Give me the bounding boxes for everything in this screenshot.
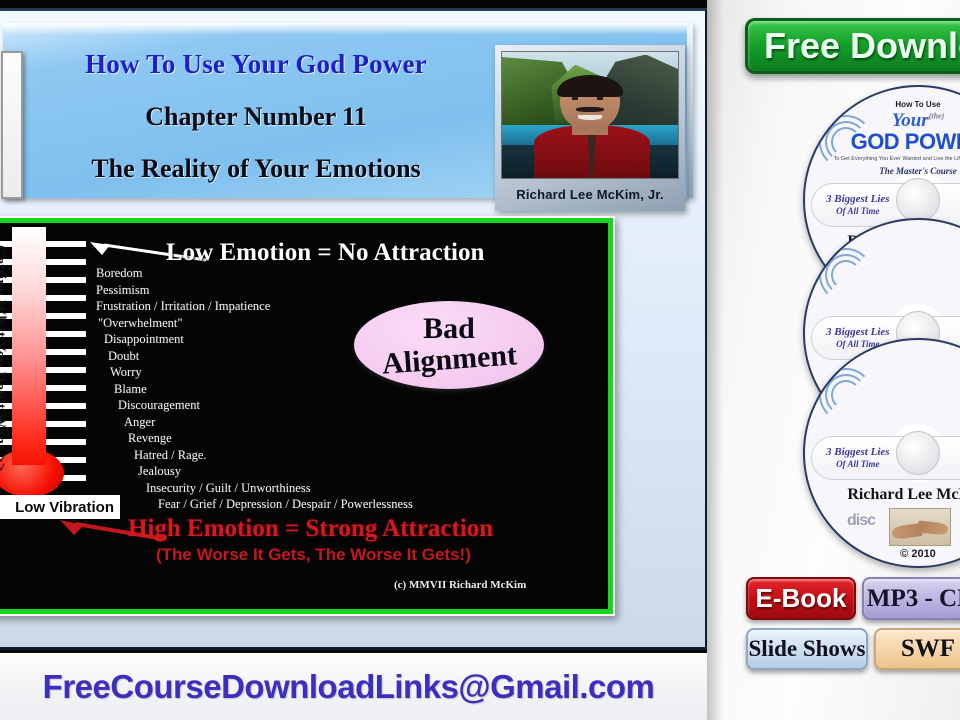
cropped-side-panel xyxy=(1,51,23,199)
list-item: Pessimism xyxy=(84,282,504,299)
thermometer-tick xyxy=(46,403,86,409)
right-sidebar: Free Download How To Use Your(the) GOD P… xyxy=(707,0,960,720)
slide-content: Getting What You Don't Want >> Low Vibra… xyxy=(0,223,608,609)
thermometer-tick xyxy=(46,313,86,319)
low-emotion-headline: Low Emotion = No Attraction xyxy=(166,239,484,267)
chapter-number: Chapter Number 11 xyxy=(31,102,481,132)
cd-band-left-line1: 3 Biggest Lies xyxy=(826,446,890,458)
cd-art-line1: How To Use xyxy=(805,101,960,109)
bad-alignment-line1: Bad xyxy=(423,314,475,344)
cd-art-line5: The Master's Course xyxy=(805,167,960,176)
list-item: Fear / Grief / Depression / Despair / Po… xyxy=(84,496,504,513)
thermometer-tick xyxy=(46,241,86,247)
thermometer-tick xyxy=(46,259,86,265)
format-button-ebook[interactable]: E-Book xyxy=(746,577,856,620)
thermometer-tick xyxy=(46,331,86,337)
list-item: Revenge xyxy=(84,430,504,447)
slide-image-frame: Getting What You Don't Want >> Low Vibra… xyxy=(0,216,615,616)
cd-art-line2: Your xyxy=(892,110,929,131)
cd-art-line4: To Get Everything You Ever Wanted and Li… xyxy=(805,156,960,163)
author-portrait-image xyxy=(501,51,679,179)
free-download-label: Free Download xyxy=(764,25,960,67)
creation-of-adam-hands-icon xyxy=(889,508,951,546)
cd-band-left-line2: Of All Time xyxy=(826,205,890,217)
disc-logo-icon: disc xyxy=(847,512,875,530)
cd-art-line2-small: (the) xyxy=(929,112,945,121)
thermometer-tick xyxy=(46,385,86,391)
slide-title-block: How To Use Your God Power Chapter Number… xyxy=(31,49,481,184)
email-footer-bar: FreeCourseDownloadLinks@Gmail.com xyxy=(0,650,707,720)
thermometer-tick xyxy=(46,421,86,427)
chapter-subtitle: The Reality of Your Emotions xyxy=(31,154,481,184)
cd-band-left: 3 Biggest Lies Of All Time xyxy=(826,193,890,217)
slide-green-border: Getting What You Don't Want >> Low Vibra… xyxy=(0,218,613,614)
emotion-thermometer: Getting What You Don't Want >> xyxy=(0,227,82,517)
thermometer-tick xyxy=(46,439,86,445)
cd-author-name: Richard Lee McKim xyxy=(805,486,960,504)
thermometer-tick xyxy=(46,349,86,355)
cd-band-left-line2: Of All Time xyxy=(826,458,890,470)
top-black-bar xyxy=(0,0,707,8)
slide-header-band: How To Use Your God Power Chapter Number… xyxy=(3,23,693,198)
cd-cover-art: How To Use Your(the) GOD POWER To Get Ev… xyxy=(805,101,960,176)
bad-alignment-line2: Alignment xyxy=(381,339,518,380)
thermometer-tick xyxy=(46,277,86,283)
free-download-button[interactable]: Free Download xyxy=(745,18,960,74)
list-item: Jealousy xyxy=(84,463,504,480)
cd-band-left-line1: 3 Biggest Lies xyxy=(826,193,890,205)
sound-wave-arc-icon xyxy=(831,380,861,410)
photo-eye-left xyxy=(572,97,578,100)
thermometer-column xyxy=(12,227,46,465)
photo-eye-right xyxy=(597,97,603,100)
list-item: Hatred / Rage. xyxy=(84,447,504,464)
bad-alignment-badge: Bad Alignment xyxy=(354,301,544,389)
thermometer-label: Getting What You Don't Want >> xyxy=(0,245,8,485)
list-item: Insecurity / Guilt / Unworthiness xyxy=(84,480,504,497)
page-title: How To Use Your God Power xyxy=(31,49,481,80)
cd-band-left-line1: 3 Biggest Lies xyxy=(826,326,890,338)
cd-center-hole xyxy=(896,431,940,475)
high-emotion-headline: High Emotion = Strong Attraction xyxy=(128,515,493,543)
high-emotion-subtext: (The Worse It Gets, The Worse It Gets!) xyxy=(156,545,471,565)
sound-wave-arc-icon xyxy=(831,260,861,290)
format-button-swf[interactable]: SWF xyxy=(874,628,960,670)
cd-band-left: 3 Biggest Lies Of All Time xyxy=(826,446,890,470)
thermometer-tick xyxy=(46,295,86,301)
format-button-mp3-cd[interactable]: MP3 - CD xyxy=(862,577,960,620)
thermometer-tick xyxy=(46,367,86,373)
cd-art-line3: GOD POWER xyxy=(805,131,960,153)
contact-email: FreeCourseDownloadLinks@Gmail.com xyxy=(43,668,655,706)
cd-copyright-year: © 2010 xyxy=(805,548,960,560)
author-card: Richard Lee McKim, Jr. xyxy=(495,45,685,211)
list-item: Discouragement xyxy=(84,397,504,414)
presentation-panel: How To Use Your God Power Chapter Number… xyxy=(0,8,708,650)
cd-center-hole xyxy=(896,178,940,222)
screenshot-root: How To Use Your God Power Chapter Number… xyxy=(0,0,960,720)
list-item: Anger xyxy=(84,414,504,431)
list-item: Boredom xyxy=(84,265,504,282)
format-button-slide-shows[interactable]: Slide Shows xyxy=(746,628,868,670)
author-name-caption: Richard Lee McKim, Jr. xyxy=(501,179,679,202)
slide-copyright: (c) MMVII Richard McKim xyxy=(394,579,526,591)
